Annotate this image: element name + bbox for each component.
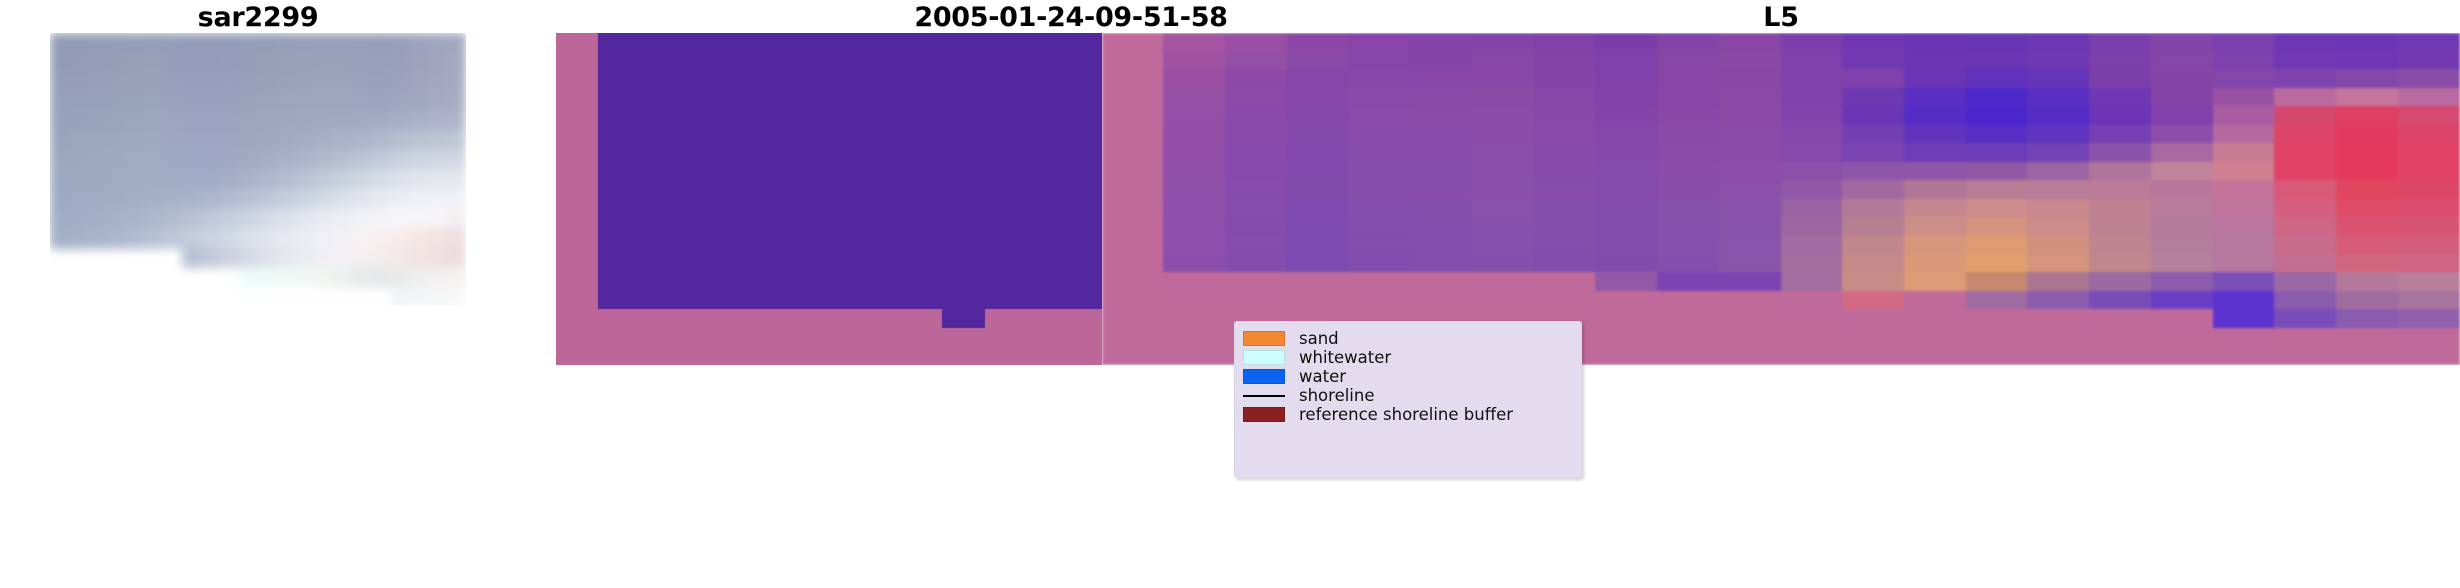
sar2299-image [50,33,466,306]
shoreline-line-icon [1243,388,1285,403]
legend-item-whitewater: whitewater [1243,348,1572,367]
panel-l5-title: L5 [1102,2,2460,33]
legend-label-reference-shoreline-buffer: reference shoreline buffer [1299,405,1513,424]
legend-item-water: water [1243,367,1572,386]
panel-sar2299-title: sar2299 [50,2,466,33]
l5-axes [1102,33,2460,365]
whitewater-swatch-icon [1243,350,1285,365]
legend: sand whitewater water shoreline referenc… [1234,321,1582,478]
sand-swatch-icon [1243,331,1285,346]
legend-item-reference-shoreline-buffer: reference shoreline buffer [1243,405,1572,424]
legend-item-sand: sand [1243,329,1572,348]
legend-item-shoreline: shoreline [1243,386,1572,405]
legend-label-shoreline: shoreline [1299,386,1375,405]
figure-root: sar2299 2005-01-24-09-51-58 L5 sand whit… [0,0,2460,588]
l5-image [1102,33,2460,365]
legend-label-whitewater: whitewater [1299,348,1391,367]
legend-label-sand: sand [1299,329,1339,348]
water-swatch-icon [1243,369,1285,384]
legend-label-water: water [1299,367,1346,386]
reference-shoreline-buffer-swatch-icon [1243,407,1285,422]
sar2299-axes [50,33,466,306]
panel-l5: L5 [1640,0,2460,588]
